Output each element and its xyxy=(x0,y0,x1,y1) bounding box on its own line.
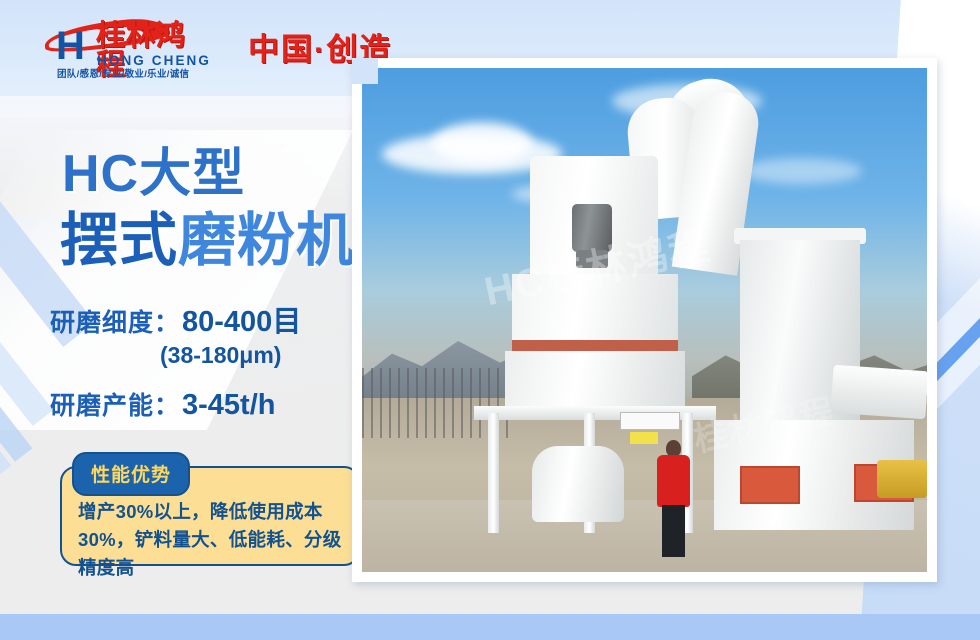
spec-capacity-label: 研磨产能： xyxy=(50,386,180,422)
mill-cone xyxy=(512,274,678,346)
cloud-shape xyxy=(432,122,532,164)
page-title-line-2-part-a: 摆式 xyxy=(60,208,178,273)
product-photo-frame: HC桂林鸿程 桂林鸿程 xyxy=(352,58,937,582)
page-title-line-2-part-b: 磨粉机 xyxy=(178,208,355,273)
person-legs xyxy=(662,505,685,557)
spec-capacity-value: 3-45t/h xyxy=(182,389,275,422)
spec-fineness-value: 80-400目 xyxy=(182,298,301,340)
advantage-text: 增产30%以上，降低使用成本30%，铲料量大、低能耗、分级精度高 xyxy=(78,498,353,581)
product-photo: HC桂林鸿程 桂林鸿程 xyxy=(362,68,927,572)
logo-tagline: 团队/感恩/专业/敬业/乐业/诚信 xyxy=(57,70,189,80)
cyclone-tank xyxy=(532,446,624,522)
cloud-shape xyxy=(742,158,862,184)
person-red-jacket xyxy=(657,455,690,507)
mill-motor xyxy=(572,204,612,252)
logo-english-name: HONG CHENG xyxy=(97,54,211,68)
spec-fineness-label: 研磨细度： xyxy=(50,303,180,339)
advantage-callout: 增产30%以上，降低使用成本30%，铲料量大、低能耗、分级精度高 性能优势 xyxy=(60,452,360,566)
page-title-line-2: 摆式磨粉机 xyxy=(60,212,355,270)
warning-label xyxy=(630,432,658,444)
red-access-panel xyxy=(740,466,800,504)
air-pipe xyxy=(830,365,927,420)
logo-letter-h: H xyxy=(56,26,84,66)
page-title-line-1: HC大型 xyxy=(62,148,245,200)
yellow-motor xyxy=(877,460,927,498)
spec-fineness: 研磨细度： 80-400目 (38-180μm) xyxy=(50,298,370,369)
promo-banner: H 桂林鸿程 HONG CHENG 团队/感恩/专业/敬业/乐业/诚信 中国·创… xyxy=(0,0,980,640)
spec-capacity: 研磨产能： 3-45t/h xyxy=(50,386,276,422)
advantage-badge: 性能优势 xyxy=(72,452,190,496)
photo-frame-notch xyxy=(352,58,378,84)
brand-header: H 桂林鸿程 HONG CHENG 团队/感恩/专业/敬业/乐业/诚信 中国·创… xyxy=(44,14,392,78)
company-logo[interactable]: H 桂林鸿程 HONG CHENG 团队/感恩/专业/敬业/乐业/诚信 xyxy=(44,14,212,78)
bottom-band-right xyxy=(830,614,980,640)
support-leg xyxy=(488,413,499,533)
equipment-sign xyxy=(620,412,680,430)
spec-fineness-sub: (38-180μm) xyxy=(160,342,370,369)
